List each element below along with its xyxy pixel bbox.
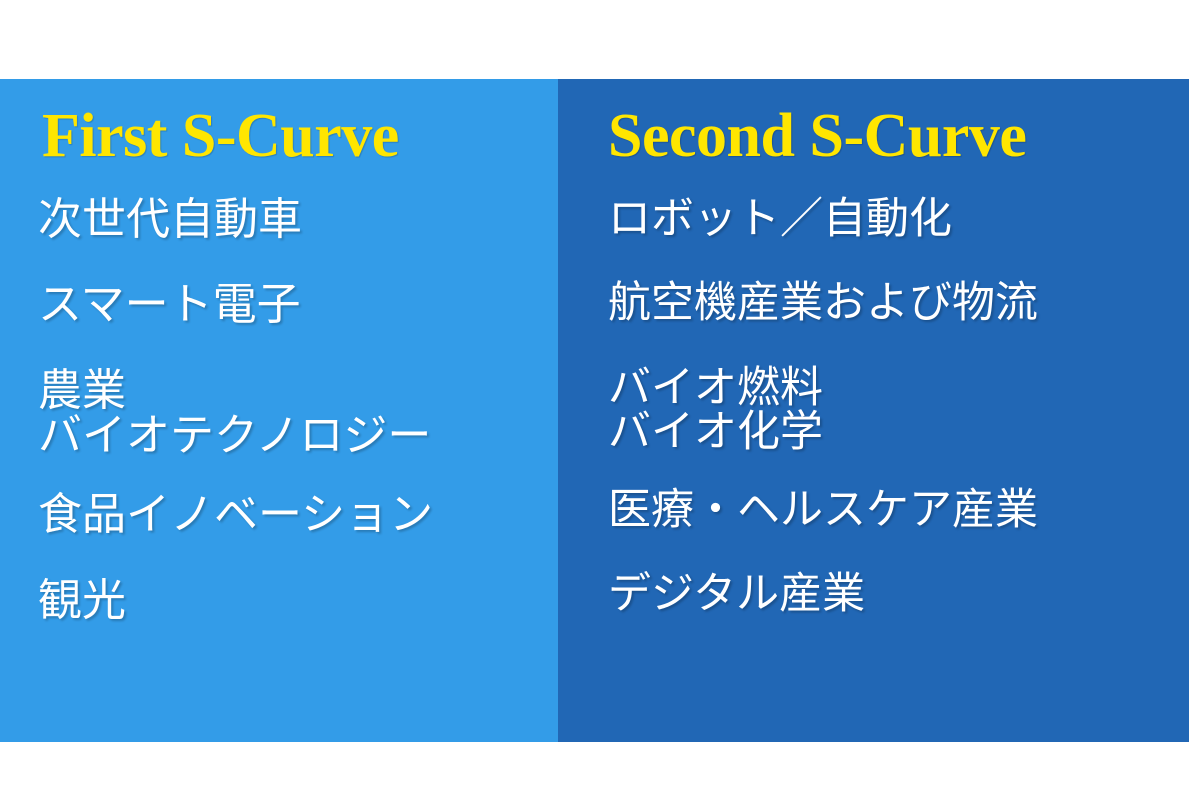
list-item-line: バイオ燃料 <box>608 366 1171 410</box>
list-item-line: 次世代自動車 <box>38 197 540 242</box>
list-item: 医療・ヘルスケア産業 <box>608 488 1171 532</box>
list-item: デジタル産業 <box>608 572 1171 616</box>
list-item-line: スマート電子 <box>38 282 540 327</box>
list-item: 次世代自動車 <box>38 197 540 242</box>
slide-root: First S-Curve 次世代自動車 スマート電子 農業 バイオテクノロジー… <box>0 0 1189 799</box>
list-item: 食品イノベーション <box>38 492 540 537</box>
column-title-first-s-curve: First S-Curve <box>42 105 540 167</box>
list-item: スマート電子 <box>38 282 540 327</box>
column-first-s-curve: First S-Curve 次世代自動車 スマート電子 農業 バイオテクノロジー… <box>0 79 558 742</box>
list-item-line: 観光 <box>38 578 540 623</box>
list-item: 農業 バイオテクノロジー <box>38 368 540 459</box>
list-item-line: デジタル産業 <box>608 572 1171 616</box>
column-second-s-curve: Second S-Curve ロボット／自動化 航空機産業および物流 バイオ燃料… <box>558 79 1189 742</box>
column-title-second-s-curve: Second S-Curve <box>608 105 1171 167</box>
list-item: 航空機産業および物流 <box>608 281 1171 325</box>
list-item: バイオ燃料 バイオ化学 <box>608 366 1171 455</box>
two-column-panels: First S-Curve 次世代自動車 スマート電子 農業 バイオテクノロジー… <box>0 79 1189 742</box>
list-item-line: ロボット／自動化 <box>608 197 1171 241</box>
item-list-first-s-curve: 次世代自動車 スマート電子 農業 バイオテクノロジー 食品イノベーション 観光 <box>38 197 540 623</box>
item-list-second-s-curve: ロボット／自動化 航空機産業および物流 バイオ燃料 バイオ化学 医療・ヘルスケア… <box>608 197 1171 617</box>
list-item: ロボット／自動化 <box>608 197 1171 241</box>
list-item-line: バイオテクノロジー <box>38 413 540 458</box>
list-item-line: 医療・ヘルスケア産業 <box>608 488 1171 532</box>
list-item-line: バイオ化学 <box>608 410 1171 454</box>
list-item-line: 食品イノベーション <box>38 492 540 537</box>
list-item: 観光 <box>38 578 540 623</box>
list-item-line: 航空機産業および物流 <box>608 281 1171 325</box>
list-item-line: 農業 <box>38 368 540 413</box>
